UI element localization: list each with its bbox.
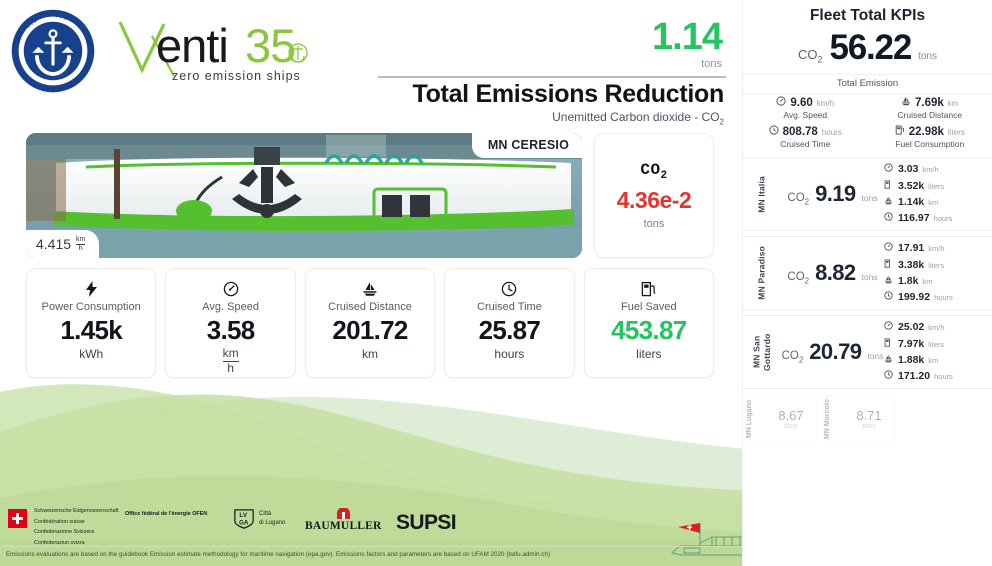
fleet-kpi-row: 9.60 km/h Avg. Speed 7.69k km Cruised Di… <box>743 94 992 123</box>
total-reduction-kpi: 1.14 tons <box>652 18 722 70</box>
ship-stat-unit: liters <box>928 181 944 193</box>
baumuller-mark-icon <box>335 508 352 519</box>
fleet-kpi-cruised-distance[interactable]: 7.69k km Cruised Distance <box>868 94 992 123</box>
svg-text:enti: enti <box>156 19 228 72</box>
ship-co2-label: CO2 <box>787 192 809 206</box>
ship-co2-sub: 2 <box>799 355 803 364</box>
fleet-total-emission: CO2 56.22 tons <box>743 28 992 74</box>
reduction-value: 1.14 <box>652 18 722 56</box>
ship-photo-card[interactable]: MN CERESIO 4.415 km h <box>26 133 582 258</box>
metric-unit-num: km <box>223 346 239 360</box>
ship-co2-label: CO2 <box>782 350 804 364</box>
co2-card-label: CO2 <box>640 161 667 182</box>
ship-stat-fuel: 3.52kliters <box>884 178 988 194</box>
clock-icon <box>501 280 517 298</box>
mini-ship-values: 8.67 tons <box>766 408 816 430</box>
mini-ship-unit: tons <box>766 423 816 430</box>
mini-ship-name: MN Morcote <box>824 399 844 439</box>
co2-label-sub: 2 <box>661 171 668 183</box>
ship-stat-fuel: 7.97kliters <box>884 336 988 352</box>
sailboat-icon <box>901 96 911 106</box>
fleet-kpi-label: Fuel Consumption <box>868 139 992 149</box>
mini-ship-value: 8.67 <box>766 408 816 423</box>
ship-row-italia[interactable]: MN Italia CO2 9.19 tons 3.03km/h 3.52kli… <box>743 157 992 231</box>
page-title: Total Emissions Reduction <box>412 80 724 109</box>
ship-co2-sub: 2 <box>805 276 809 285</box>
ship-stat-unit: hours <box>934 213 953 225</box>
speedometer-icon <box>884 163 894 172</box>
ship-stat-time: 116.97hours <box>884 210 988 226</box>
clock-icon <box>884 370 894 379</box>
current-speed-value: 4.415 <box>36 236 71 252</box>
speedometer-icon <box>884 242 894 251</box>
baumuller-name: BAUMULLER <box>305 520 382 532</box>
metric-card-fuel-saved[interactable]: Fuel Saved 453.87 liters <box>584 268 714 378</box>
fleet-total-unit: tons <box>918 51 937 62</box>
fleet-kpi-value: 9.60 <box>790 97 812 109</box>
fleet-kpi-label: Avg. Speed <box>743 110 868 120</box>
ship-stat-unit: hours <box>934 371 953 383</box>
metric-unit: km h <box>223 347 239 376</box>
speed-unit-den: h <box>76 244 85 252</box>
fleet-kpi-title: Fleet Total KPIs <box>743 0 992 28</box>
metric-unit: km <box>362 347 378 361</box>
ship-co2-unit: tons <box>867 351 883 361</box>
mini-ship-name: MN Lugano <box>746 400 766 438</box>
ship-co2-block: CO2 20.79 tons <box>781 339 884 365</box>
fleet-sidebar: Fleet Total KPIs CO2 56.22 tons Total Em… <box>742 0 992 566</box>
ship-stats: 25.02km/h 7.97kliters 1.88kkm 171.20hour… <box>884 319 992 384</box>
lugano-line-2: di Lugano <box>259 519 285 528</box>
fuel-pump-icon <box>641 280 656 298</box>
ship-co2-unit: tons <box>862 193 878 203</box>
fleet-co2-sub: 2 <box>817 55 822 65</box>
fleet-kpi-grid: 9.60 km/h Avg. Speed 7.69k km Cruised Di… <box>743 93 992 152</box>
co2-card-unit: tons <box>644 218 665 230</box>
ship-stat-unit: km/h <box>928 243 944 255</box>
metric-card-avg-speed[interactable]: Avg. Speed 3.58 km h <box>165 268 295 378</box>
svg-text:LV: LV <box>239 512 247 519</box>
baumuller-logo: BAUMULLER <box>305 508 382 532</box>
swiss-flag-icon <box>8 509 27 528</box>
ship-name: MN San Gottardo <box>743 316 781 388</box>
fleet-kpi-value: 808.78 <box>783 126 818 138</box>
metric-label: Avg. Speed <box>202 301 259 313</box>
svg-text:zero emission ships: zero emission ships <box>172 69 301 83</box>
ship-co2-text: CO <box>787 271 804 283</box>
fleet-total-value: 56.22 <box>830 28 912 68</box>
clock-icon <box>769 125 779 135</box>
ship-stat-value: 1.88k <box>898 352 924 368</box>
metric-value: 25.87 <box>479 315 541 346</box>
fleet-kpi-cruised-time[interactable]: 808.78 hours Cruised Time <box>743 123 868 152</box>
metric-unit-den: h <box>223 361 239 376</box>
co2-card-value: 4.36e-2 <box>617 187 692 214</box>
metric-card-power-consumption[interactable]: Power Consumption 1.45k kWh <box>26 268 156 378</box>
bolt-icon <box>85 280 98 298</box>
ship-co2-text: CO <box>787 192 804 204</box>
ship-name: MN Paradiso <box>743 246 781 300</box>
lugano-text: Città di Lugano <box>259 510 285 528</box>
ship-stat-unit: liters <box>928 260 944 272</box>
fleet-kpi-unit: hours <box>822 128 842 137</box>
fleet-kpi-value-row: 9.60 km/h <box>743 96 868 109</box>
svg-text:35: 35 <box>245 19 295 72</box>
supsi-logo: SUPSI <box>396 511 456 535</box>
ship-co2-block: CO2 8.82 tons <box>781 260 884 286</box>
fleet-kpi-avg-speed[interactable]: 9.60 km/h Avg. Speed <box>743 94 868 123</box>
ship-stat-distance: 1.88kkm <box>884 352 988 368</box>
ship-stat-value: 171.20 <box>898 368 930 384</box>
photo-and-co2-row: MN CERESIO 4.415 km h CO2 4.36e-2 tons <box>26 133 714 258</box>
ship-co2-unit: tons <box>862 272 878 282</box>
current-speed-badge: 4.415 km h <box>26 230 99 258</box>
metric-label: Cruised Time <box>477 301 542 313</box>
ship-stat-value: 25.02 <box>898 319 924 335</box>
metric-label: Power Consumption <box>42 301 141 313</box>
ship-stat-unit: km <box>922 276 932 288</box>
header-divider <box>378 76 726 78</box>
sailboat-icon <box>884 196 894 205</box>
ship-stat-value: 116.97 <box>898 210 930 226</box>
ship-stat-unit: km <box>928 197 938 209</box>
metric-value: 3.58 <box>207 315 255 346</box>
speed-unit-num: km <box>76 236 85 243</box>
ship-stat-value: 3.38k <box>898 257 924 273</box>
ship-stat-value: 199.92 <box>898 289 930 305</box>
ship-name-label: MN CERESIO <box>472 133 582 158</box>
metric-value: 201.72 <box>332 315 407 346</box>
ship-stat-value: 17.91 <box>898 240 924 256</box>
mini-ship-card-morcote[interactable]: MN Morcote 8.71 tons <box>823 396 895 442</box>
svg-text:GA: GA <box>239 520 249 527</box>
ship-stat-value: 3.03 <box>898 161 918 177</box>
ship-co2-text: CO <box>782 350 799 362</box>
ship-co2-sub: 2 <box>805 197 809 206</box>
fleet-total-caption: Total Emission <box>743 74 992 93</box>
sailboat-icon <box>884 275 894 284</box>
ship-stat-speed: 25.02km/h <box>884 319 988 335</box>
clock-icon <box>884 212 894 221</box>
metric-value: 1.45k <box>60 315 122 346</box>
ship-row-paradiso[interactable]: MN Paradiso CO2 8.82 tons 17.91km/h 3.38… <box>743 236 992 310</box>
ship-stat-unit: km/h <box>922 164 938 176</box>
ship-stat-unit: liters <box>928 339 944 351</box>
fleet-kpi-value-row: 808.78 hours <box>743 125 868 138</box>
fleet-kpi-unit: liters <box>948 128 965 137</box>
ship-stat-time: 199.92hours <box>884 289 988 305</box>
lugano-shield-icon: LV GA <box>233 508 255 530</box>
fuel-pump-icon <box>884 259 894 268</box>
ship-co2-label: CO2 <box>787 271 809 285</box>
ship-stat-distance: 1.14kkm <box>884 194 988 210</box>
sailboat-icon <box>362 280 378 298</box>
ship-stat-unit: km <box>928 355 938 367</box>
venti35-wordmark-logo: enti 35 zero emission ships <box>112 14 327 86</box>
ship-stat-unit: hours <box>934 292 953 304</box>
speedometer-icon <box>884 321 894 330</box>
mini-ship-unit: tons <box>844 423 894 430</box>
ship-co2-block: CO2 9.19 tons <box>781 181 884 207</box>
ship-co2-value: 8.82 <box>815 260 855 286</box>
metric-cards-row: Power Consumption 1.45k kWh Avg. Speed 3… <box>26 268 714 378</box>
reduction-unit: tons <box>652 58 722 70</box>
metric-label: Cruised Distance <box>328 301 412 313</box>
fleet-kpi-value-row: 22.98k liters <box>868 125 992 138</box>
fleet-kpi-value: 22.98k <box>909 126 944 138</box>
metric-label: Fuel Saved <box>621 301 677 313</box>
mini-ship-value: 8.71 <box>844 408 894 423</box>
fleet-kpi-unit: km <box>948 99 959 108</box>
metric-card-cruised-time[interactable]: Cruised Time 25.87 hours <box>444 268 574 378</box>
metric-unit: liters <box>636 347 661 361</box>
ship-stat-fuel: 3.38kliters <box>884 257 988 273</box>
ship-stat-value: 1.8k <box>898 273 918 289</box>
page-subtitle: Unemitted Carbon dioxide - CO2 <box>552 110 724 126</box>
current-speed-unit: km h <box>76 236 85 252</box>
fleet-kpi-value: 7.69k <box>915 97 944 109</box>
main-panel: S O C I E T À N A V I G A Z. DEL LAGO DI… <box>0 0 740 566</box>
ship-stat-unit: km/h <box>928 322 944 334</box>
metric-card-cruised-distance[interactable]: Cruised Distance 201.72 km <box>305 268 435 378</box>
ship-stat-distance: 1.8kkm <box>884 273 988 289</box>
ship-co2-value: 9.19 <box>815 181 855 207</box>
ship-name: MN Italia <box>743 176 781 213</box>
ship-co2-value: 20.79 <box>809 339 861 365</box>
page-header: S O C I E T À N A V I G A Z. DEL LAGO DI… <box>0 0 740 128</box>
ship-stat-time: 171.20hours <box>884 368 988 384</box>
confederation-text: Schweizerische Eidgenossenschaft Confédé… <box>34 506 119 548</box>
mini-ship-card-lugano[interactable]: MN Lugano 8.67 tons <box>745 396 817 442</box>
metric-unit: hours <box>494 347 524 361</box>
fleet-kpi-fuel-consumption[interactable]: 22.98k liters Fuel Consumption <box>868 123 992 152</box>
page-subtitle-text: Unemitted Carbon dioxide - CO <box>552 110 719 124</box>
ship-stat-value: 1.14k <box>898 194 924 210</box>
fleet-kpi-unit: km/h <box>817 99 834 108</box>
dashboard-root: S O C I E T À N A V I G A Z. DEL LAGO DI… <box>0 0 992 566</box>
metric-unit: kWh <box>79 347 103 361</box>
metric-value: 453.87 <box>611 315 686 346</box>
speedometer-icon <box>223 280 239 298</box>
fuel-pump-icon <box>884 180 894 189</box>
ship-stats: 3.03km/h 3.52kliters 1.14kkm 116.97hours <box>884 161 992 226</box>
partner-logos: Schweizerische Eidgenossenschaft Confédé… <box>0 502 740 544</box>
ofen-text: Office fédéral de l'énergie OFEN <box>125 511 207 517</box>
citta-di-lugano-logo: LV GA Città di Lugano <box>233 508 285 530</box>
ship-stat-speed: 17.91km/h <box>884 240 988 256</box>
ship-stat-value: 7.97k <box>898 336 924 352</box>
mini-ship-values: 8.71 tons <box>844 408 894 430</box>
fleet-kpi-label: Cruised Distance <box>868 110 992 120</box>
ship-stats: 17.91km/h 3.38kliters 1.8kkm 199.92hours <box>884 240 992 305</box>
fleet-co2-label: CO2 <box>798 47 823 65</box>
mini-ship-row: MN Lugano 8.67 tons MN Morcote 8.71 tons <box>743 396 992 442</box>
sailboat-icon <box>884 354 894 363</box>
ship-stat-value: 3.52k <box>898 178 924 194</box>
fuel-pump-icon <box>895 125 905 135</box>
lugano-line-1: Città <box>259 510 285 519</box>
page-subtitle-subscript: 2 <box>720 117 724 126</box>
ship-row-san-gottardo[interactable]: MN San Gottardo CO2 20.79 tons 25.02km/h… <box>743 315 992 389</box>
ship-stat-speed: 3.03km/h <box>884 161 988 177</box>
speedometer-icon <box>776 96 786 106</box>
co2-label-text: CO <box>640 161 660 179</box>
fuel-pump-icon <box>884 338 894 347</box>
fleet-kpi-row: 808.78 hours Cruised Time 22.98k liters … <box>743 123 992 152</box>
clock-icon <box>884 291 894 300</box>
snl-seal-logo: S O C I E T À N A V I G A Z. DEL LAGO DI… <box>10 8 96 94</box>
fleet-kpi-value-row: 7.69k km <box>868 96 992 109</box>
fleet-co2-text: CO <box>798 47 818 62</box>
fleet-kpi-label: Cruised Time <box>743 139 868 149</box>
co2-emission-card[interactable]: CO2 4.36e-2 tons <box>594 133 714 258</box>
